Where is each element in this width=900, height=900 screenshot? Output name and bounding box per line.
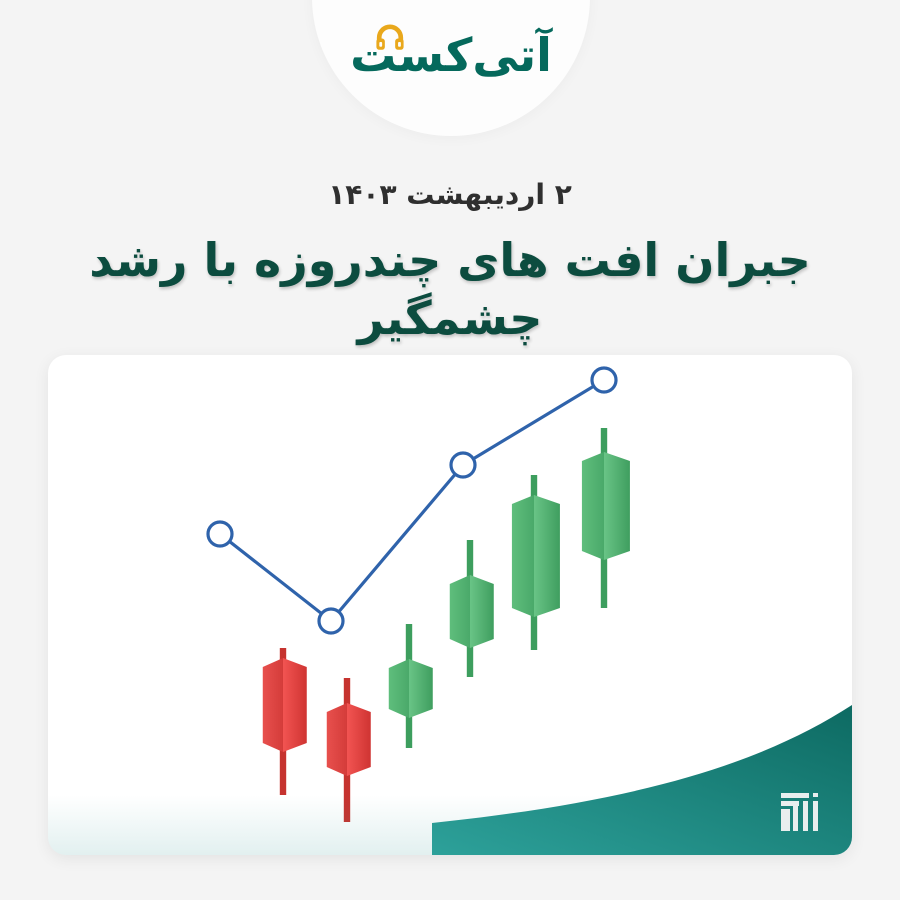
- candle-4-bullish: [450, 540, 494, 677]
- candle-body-left-face: [327, 703, 347, 776]
- trend-marker-2[interactable]: [319, 609, 343, 633]
- candle-body-left-face: [450, 575, 470, 648]
- candle-body-right-face: [283, 658, 307, 752]
- candle-body-right-face: [604, 452, 630, 560]
- candle-body-right-face: [470, 575, 494, 648]
- page-title: جبران افت های چندروزه با رشد چشمگیر: [0, 232, 900, 347]
- trend-marker-1[interactable]: [208, 522, 232, 546]
- candle-body-right-face: [409, 659, 433, 718]
- candle-body-left-face: [582, 452, 604, 560]
- candle-1-bearish: [263, 648, 307, 795]
- candle-body-left-face: [389, 659, 409, 718]
- candle-3-bullish: [389, 624, 433, 748]
- candle-5-bullish: [512, 475, 560, 650]
- poster-root: آتی‌کست ۲ اردیبهشت ۱۴۰۳ جبران افت های چن…: [0, 0, 900, 900]
- candle-6-bullish: [582, 428, 630, 608]
- fti-logo-mark-icon: [780, 791, 824, 833]
- candle-2-bearish: [327, 678, 371, 822]
- candle-body-right-face: [347, 703, 371, 776]
- brand-wordmark: آتی‌کست: [350, 32, 552, 78]
- candle-body-left-face: [263, 658, 283, 752]
- publish-date: ۲ اردیبهشت ۱۴۰۳: [0, 178, 900, 211]
- brand-logo[interactable]: آتی‌کست: [312, 18, 590, 84]
- chart-card: [48, 355, 852, 855]
- trend-marker-4[interactable]: [592, 368, 616, 392]
- trend-marker-3[interactable]: [451, 453, 475, 477]
- candle-body-left-face: [512, 495, 534, 617]
- candle-body-right-face: [534, 495, 560, 617]
